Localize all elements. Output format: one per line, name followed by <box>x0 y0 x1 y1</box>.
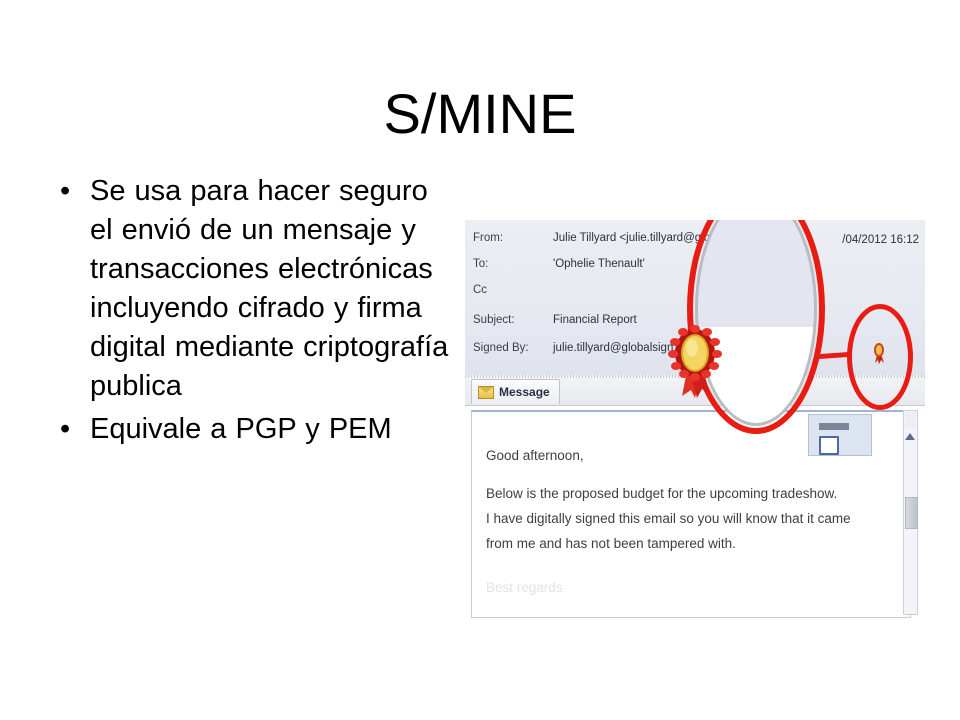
body-line: Good afternoon, <box>486 448 584 463</box>
bullet-marker: • <box>60 410 70 449</box>
body-line: Below is the proposed budget for the upc… <box>486 486 837 501</box>
bullet-text: Equivale a PGP y PEM <box>90 413 392 445</box>
vertical-scrollbar[interactable] <box>903 410 918 615</box>
bullet-text: Se usa para hacer seguro el envió de un … <box>90 175 448 402</box>
bullet-marker: • <box>60 172 70 211</box>
list-item: • Equivale a PGP y PEM <box>52 410 452 449</box>
tab-message-label: Message <box>499 385 550 399</box>
cc-label: Cc <box>473 284 551 296</box>
body-line: I have digitally signed this email so yo… <box>486 511 851 526</box>
page-title: S/MINE <box>0 84 960 144</box>
received-timestamp: /04/2012 16:12 <box>842 234 919 246</box>
scrollbar-top-icon <box>905 412 916 428</box>
scrollbar-thumb[interactable] <box>905 497 918 529</box>
scroll-up-arrow-icon[interactable] <box>905 433 915 440</box>
body-line: from me and has not been tampered with. <box>486 536 736 551</box>
envelope-icon <box>478 386 494 399</box>
list-item: • Se usa para hacer seguro el envió de u… <box>52 172 452 406</box>
signed-by-label: Signed By: <box>473 342 551 354</box>
body-line-faded: Best regards <box>486 580 563 595</box>
email-body-panel: Good afternoon, Below is the proposed bu… <box>471 410 911 618</box>
certificate-icon <box>819 436 839 455</box>
certificate-signature-icon <box>808 414 872 456</box>
from-label: From: <box>473 232 551 244</box>
email-screenshot-image: From: Julie Tillyard <julie.tillyard@glo… <box>465 220 925 620</box>
subject-label: Subject: <box>473 314 551 326</box>
bullet-list: • Se usa para hacer seguro el envió de u… <box>52 172 452 453</box>
to-label: To: <box>473 258 551 270</box>
tab-message[interactable]: Message <box>471 379 560 404</box>
to-value: 'Ophelie Thenault' <box>553 258 645 270</box>
signature-bar-icon <box>819 423 849 430</box>
subject-value: Financial Report <box>553 314 637 326</box>
digital-signature-seal-icon <box>666 322 724 400</box>
digital-signature-seal-icon-small <box>871 342 887 364</box>
